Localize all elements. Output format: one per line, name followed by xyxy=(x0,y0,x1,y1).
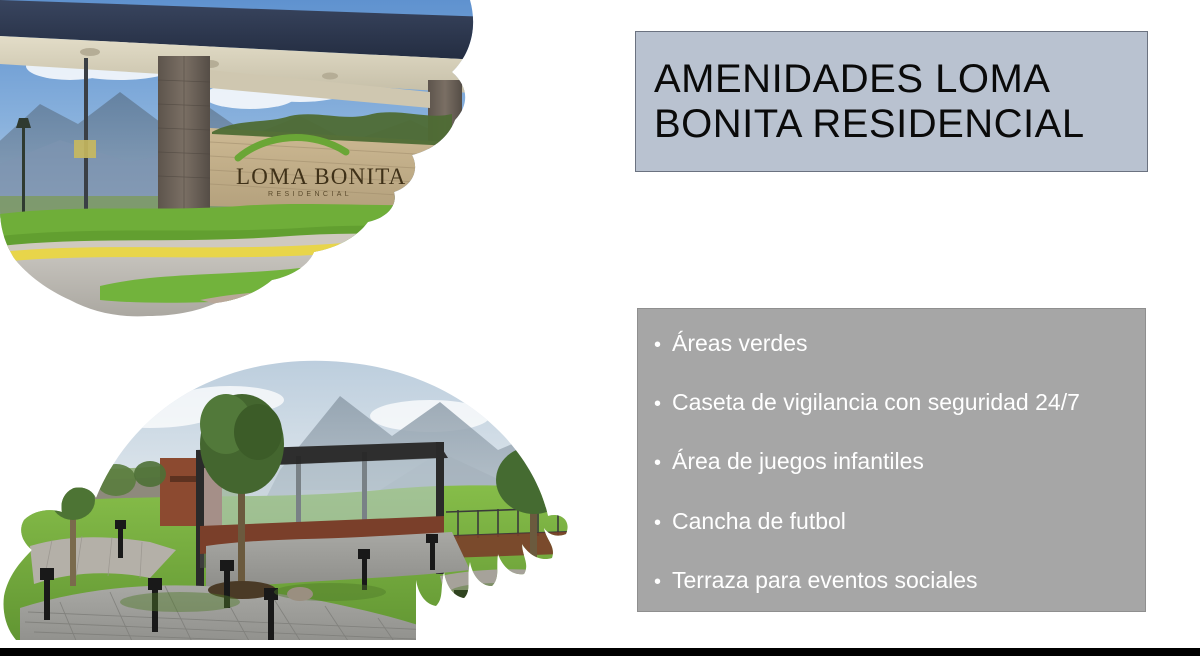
list-item-label: Terraza para eventos sociales xyxy=(672,568,1129,593)
photo-entrance-gate-svg: LOMA BONITA RESIDENCIAL xyxy=(0,0,520,320)
list-item: • Caseta de vigilancia con seguridad 24/… xyxy=(654,390,1129,415)
list-item: • Terraza para eventos sociales xyxy=(654,568,1129,593)
photo-terrace-amenity xyxy=(0,340,620,650)
bollard-light xyxy=(454,590,468,642)
list-item: • Áreas verdes xyxy=(654,331,1129,356)
photo-terrace-amenity-svg xyxy=(0,340,620,650)
logo-brand-text: LOMA BONITA xyxy=(236,164,406,189)
bottom-bar xyxy=(0,648,1200,656)
list-item-label: Área de juegos infantiles xyxy=(672,449,1129,474)
slide-root: LOMA BONITA RESIDENCIAL xyxy=(0,0,1200,656)
logo-subtitle-text: RESIDENCIAL xyxy=(268,191,352,198)
list-item-label: Áreas verdes xyxy=(672,331,1129,356)
bullet-icon: • xyxy=(654,513,672,533)
photo-entrance-gate-content: LOMA BONITA RESIDENCIAL xyxy=(0,0,520,320)
title-panel: AMENIDADES LOMA BONITA RESIDENCIAL xyxy=(635,31,1148,172)
amenities-panel: • Áreas verdes • Caseta de vigilancia co… xyxy=(637,308,1146,612)
photo-entrance-gate: LOMA BONITA RESIDENCIAL xyxy=(0,0,520,320)
bullet-icon: • xyxy=(654,572,672,592)
list-item: • Cancha de futbol xyxy=(654,509,1129,534)
rock-accent xyxy=(287,587,313,601)
bullet-icon: • xyxy=(654,394,672,414)
list-item-label: Caseta de vigilancia con seguridad 24/7 xyxy=(672,390,1129,415)
list-item: • Área de juegos infantiles xyxy=(654,449,1129,474)
photo-terrace-content xyxy=(0,340,620,650)
page-title: AMENIDADES LOMA BONITA RESIDENCIAL xyxy=(636,57,1085,147)
bullet-icon: • xyxy=(654,453,672,473)
list-item-label: Cancha de futbol xyxy=(672,509,1129,534)
bullet-icon: • xyxy=(654,335,672,355)
